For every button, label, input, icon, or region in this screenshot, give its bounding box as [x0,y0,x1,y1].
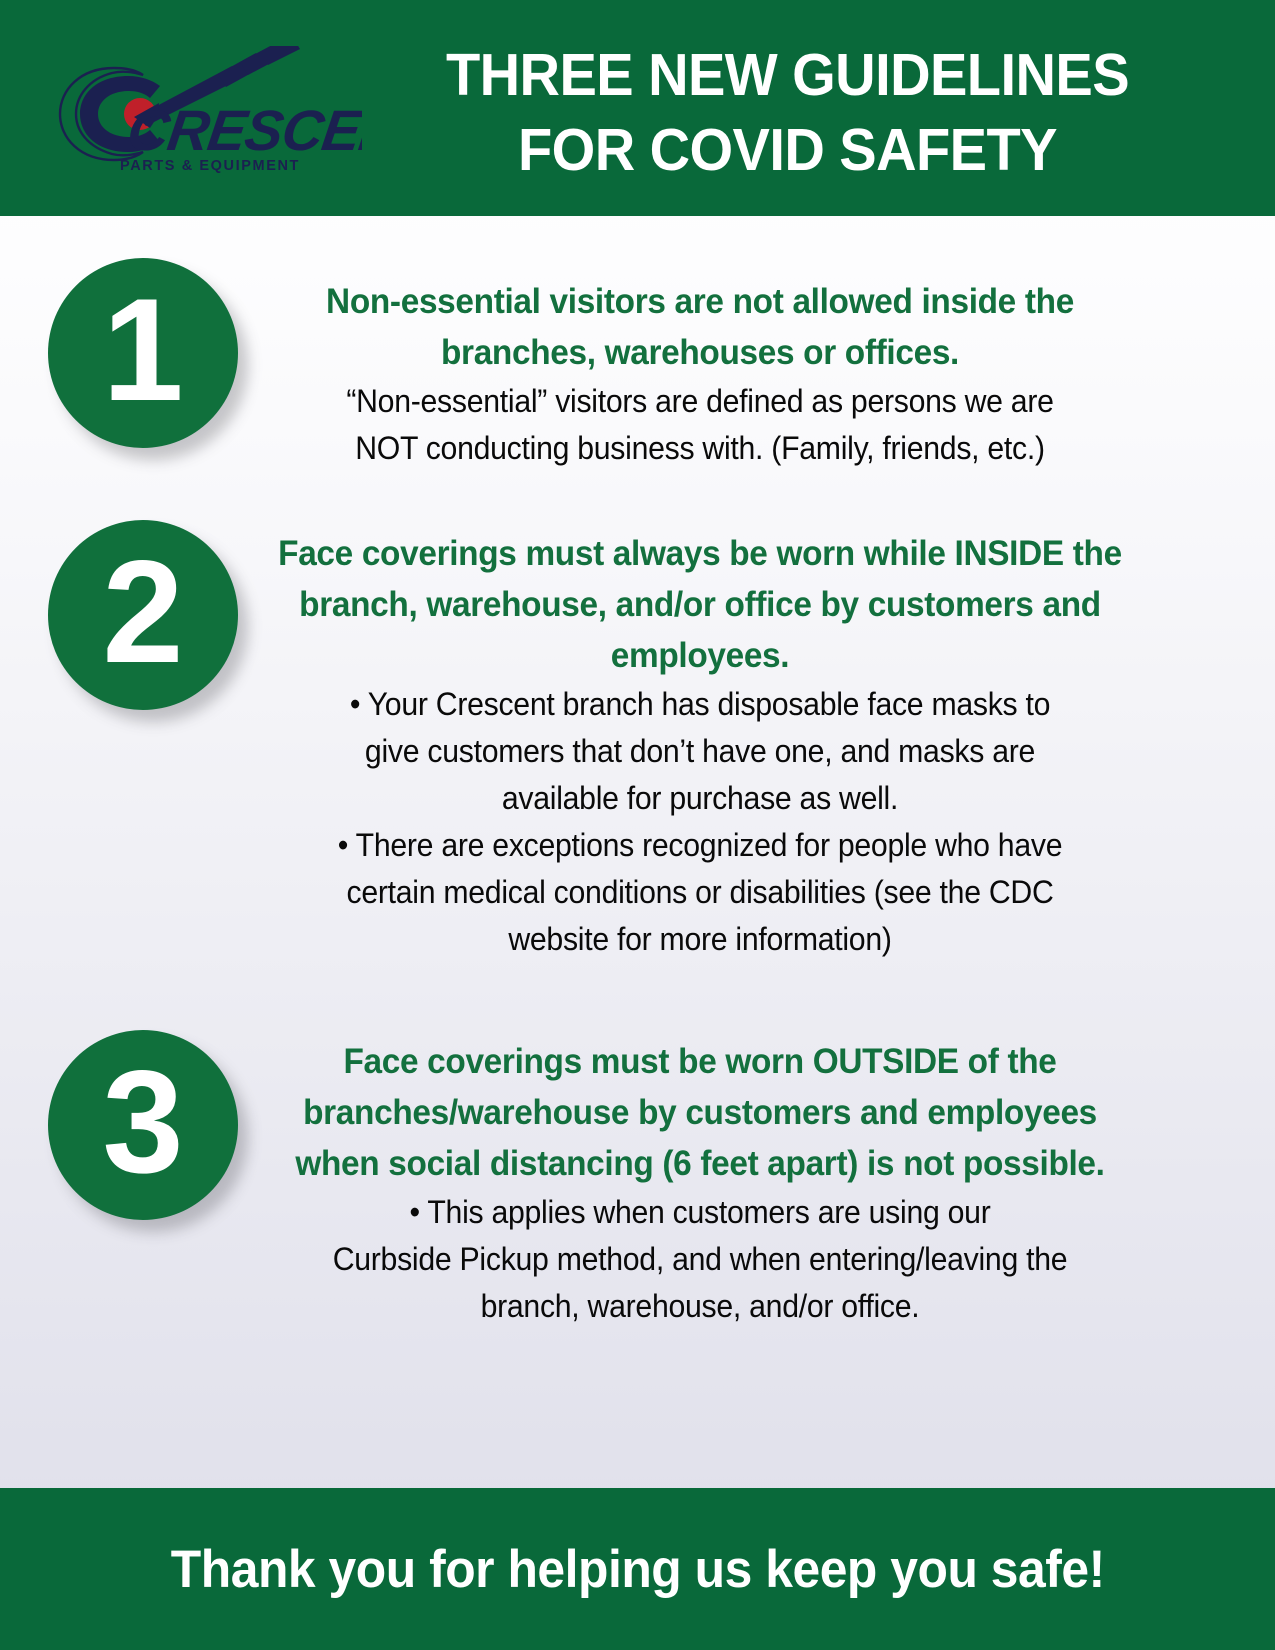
page-title: THREE NEW GUIDELINES FOR COVID SAFETY [381,38,1193,188]
guideline-detail-3: • This applies when customers are using … [270,1189,1129,1330]
guideline-headline-2: Face coverings must always be worn while… [266,528,1135,681]
detail-line: “Non-essential” visitors are defined as … [270,378,1129,425]
detail-line: available for purchase as well. [270,775,1129,822]
guideline-body-2: Face coverings must always be worn while… [238,528,1162,963]
detail-line: NOT conducting business with. (Family, f… [270,425,1129,472]
header-band: CRESCENT PARTS & EQUIPMENT THREE NEW GUI… [0,0,1275,216]
guideline-number-badge-3: 3 [48,1030,238,1220]
detail-line: give customers that don’t have one, and … [270,728,1129,775]
detail-line: certain medical conditions or disabiliti… [270,869,1129,916]
detail-line: • This applies when customers are using … [270,1189,1129,1236]
covid-safety-poster: CRESCENT PARTS & EQUIPMENT THREE NEW GUI… [0,0,1275,1650]
crescent-logo: CRESCENT PARTS & EQUIPMENT [42,46,362,174]
detail-line: branch, warehouse, and/or office. [270,1283,1129,1330]
svg-text:PARTS & EQUIPMENT: PARTS & EQUIPMENT [120,158,300,174]
guideline-body-1: Non-essential visitors are not allowed i… [238,276,1162,472]
guideline-number-badge-2: 2 [48,520,238,710]
guideline-detail-2: • Your Crescent branch has disposable fa… [270,681,1129,963]
guideline-headline-1: Non-essential visitors are not allowed i… [266,276,1135,378]
guideline-detail-1: “Non-essential” visitors are defined as … [270,378,1129,472]
crescent-target-arrow-icon: CRESCENT PARTS & EQUIPMENT [42,46,362,174]
detail-line: • There are exceptions recognized for pe… [270,822,1129,869]
guideline-body-3: Face coverings must be worn OUTSIDE of t… [238,1036,1162,1330]
guideline-headline-3: Face coverings must be worn OUTSIDE of t… [266,1036,1135,1189]
guideline-number-badge-1: 1 [48,258,238,448]
footer-message: Thank you for helping us keep you safe! [171,1539,1105,1600]
detail-line: • Your Crescent branch has disposable fa… [270,681,1129,728]
detail-line: Curbside Pickup method, and when enterin… [270,1236,1129,1283]
detail-line: website for more information) [270,916,1129,963]
footer-band: Thank you for helping us keep you safe! [0,1488,1275,1650]
svg-text:CRESCENT: CRESCENT [124,99,362,163]
